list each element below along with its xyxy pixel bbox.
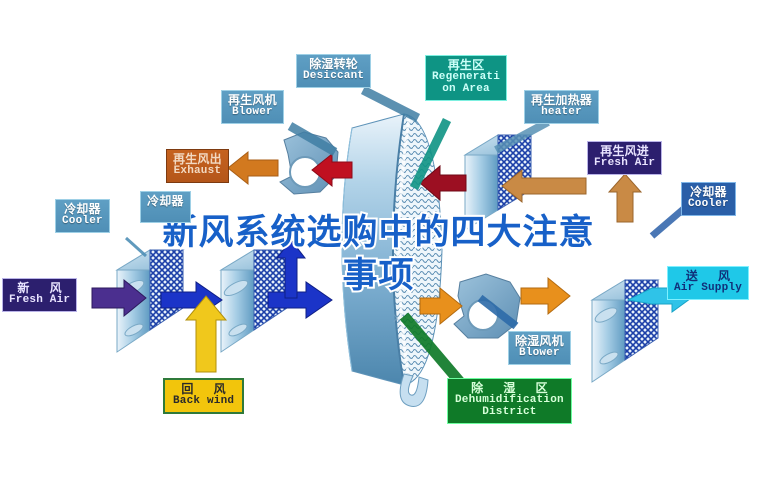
label-regen-heater-cn: 再生加热器 [531,94,592,107]
label-dehumidification-district-cn: 除湿区 [455,382,564,395]
label-fresh-air-cn: 新风 [9,282,70,295]
label-fresh-air[interactable]: 新风 Fresh Air [2,278,77,312]
label-cooler-mid-cn: 冷却器 [147,195,184,208]
schematic-svg: X1 [0,0,757,488]
label-dehumidification-district[interactable]: 除湿区 Dehumidification District [447,378,572,424]
label-back-wind-cn: 回风 [173,383,234,396]
label-regen-blower-cn: 再生风机 [228,94,277,107]
label-back-wind[interactable]: 回风 Back wind [163,378,244,414]
label-regen-heater-en: heater [531,107,592,119]
label-fresh-air-en: Fresh Air [9,295,70,307]
diagram-canvas: X1 [0,0,757,488]
label-dehum-blower[interactable]: 除湿风机 Blower [508,331,571,365]
label-cooler-left-en: Cooler [62,216,103,228]
label-exhaust-en: Exhaust [173,166,222,178]
regen-fresh-air-up [609,174,641,222]
label-regen-fresh-air[interactable]: 再生风进 Fresh Air [587,141,662,175]
label-desiccant-cn: 除湿转轮 [303,58,364,71]
label-cooler-right-cn: 冷却器 [688,186,729,199]
label-dehumidification-district-en2: District [455,407,564,419]
label-regen-heater[interactable]: 再生加热器 heater [524,90,599,124]
label-regen-fresh-air-cn: 再生风进 [594,145,655,158]
label-regeneration-area[interactable]: 再生区 Regenerati on Area [425,55,507,101]
label-cooler-right[interactable]: 冷却器 Cooler [681,182,736,216]
label-exhaust[interactable]: 再生风出 Exhaust [166,149,229,183]
label-desiccant[interactable]: 除湿转轮 Desiccant [296,54,371,88]
label-cooler-left[interactable]: 冷却器 Cooler [55,199,110,233]
label-regen-blower[interactable]: 再生风机 Blower [221,90,284,124]
label-dehum-blower-en: Blower [515,348,564,360]
label-regen-blower-en: Blower [228,107,277,119]
dehum-out-2 [521,278,570,314]
exhaust-arrow [228,152,278,184]
label-regen-fresh-air-en: Fresh Air [594,158,655,170]
label-cooler-right-en: Cooler [688,199,729,211]
label-cooler-mid[interactable]: 冷却器 [140,191,191,223]
label-dehum-blower-cn: 除湿风机 [515,335,564,348]
label-air-supply-en: Air Supply [674,283,742,295]
label-exhaust-cn: 再生风出 [173,153,222,166]
label-desiccant-en: Desiccant [303,71,364,83]
label-back-wind-en: Back wind [173,396,234,408]
label-regeneration-area-en2: on Area [432,84,500,96]
label-air-supply-cn: 送风 [674,270,742,283]
label-air-supply[interactable]: 送风 Air Supply [667,266,749,300]
label-cooler-left-cn: 冷却器 [62,203,103,216]
label-regeneration-area-cn: 再生区 [432,59,500,72]
